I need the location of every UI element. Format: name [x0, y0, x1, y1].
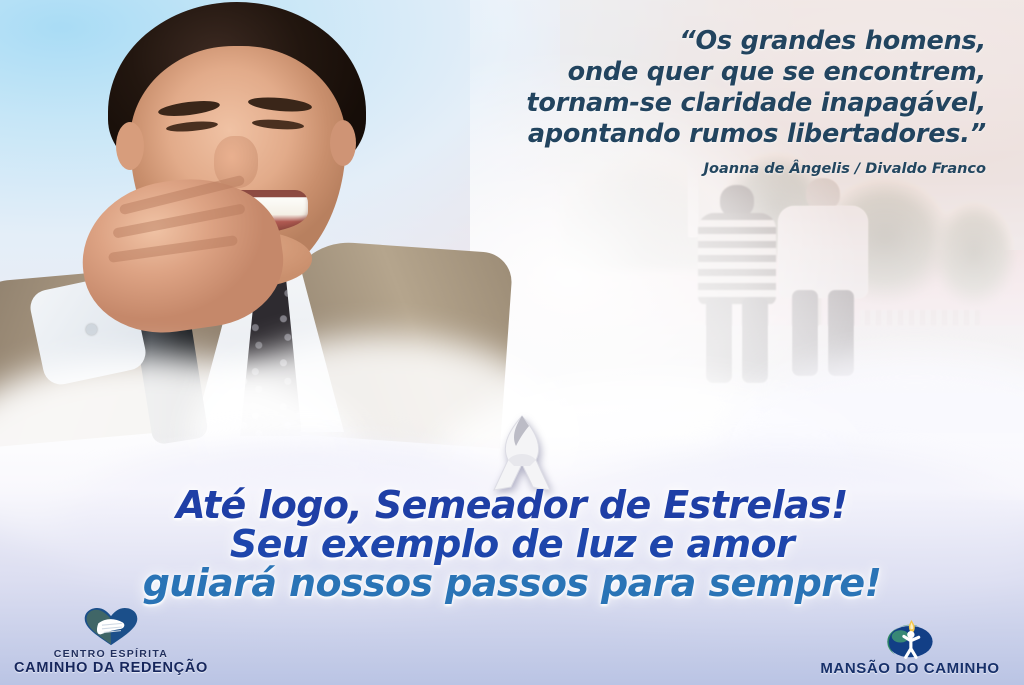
mourning-ribbon-icon	[484, 408, 560, 494]
quote-block: “Os grandes homens, onde quer que se enc…	[426, 26, 986, 177]
headline-block: Até logo, Semeador de Estrelas! Seu exem…	[0, 486, 1024, 603]
tribute-poster: “Os grandes homens, onde quer que se enc…	[0, 0, 1024, 685]
heart-with-hands-icon	[6, 607, 216, 647]
logo-left-text: CENTRO ESPÍRITA CAMINHO DA REDENÇÃO	[6, 648, 216, 677]
portrait-ear-right	[330, 120, 356, 166]
logo-right-line-1: MANSÃO DO CAMINHO	[802, 660, 1018, 677]
quote-line-2: onde quer que se encontrem,	[426, 57, 986, 88]
portrait-ear-left	[116, 122, 144, 170]
globe-with-figure-and-flame-icon	[802, 619, 1018, 659]
logo-mansao-do-caminho: MANSÃO DO CAMINHO	[802, 619, 1018, 677]
logo-left-line-1: CENTRO ESPÍRITA	[6, 648, 216, 660]
portrait-divaldo	[0, 0, 460, 424]
logo-right-text: MANSÃO DO CAMINHO	[802, 660, 1018, 677]
quote-line-1: “Os grandes homens,	[426, 26, 986, 57]
quote-line-4: apontando rumos libertadores.”	[426, 119, 986, 150]
logo-left-line-2: CAMINHO DA REDENÇÃO	[6, 660, 216, 677]
quote-line-3: tornam-se claridade inapagável,	[426, 88, 986, 119]
headline-line-1: Até logo, Semeador de Estrelas!	[0, 486, 1024, 525]
portrait-cuff-button	[86, 324, 97, 335]
logo-centro-espirita: CENTRO ESPÍRITA CAMINHO DA REDENÇÃO	[6, 607, 216, 677]
headline-line-3: guiará nossos passos para sempre!	[0, 564, 1024, 603]
headline-line-2: Seu exemplo de luz e amor	[0, 525, 1024, 564]
quote-attribution: Joanna de Ângelis / Divaldo Franco	[426, 161, 986, 177]
